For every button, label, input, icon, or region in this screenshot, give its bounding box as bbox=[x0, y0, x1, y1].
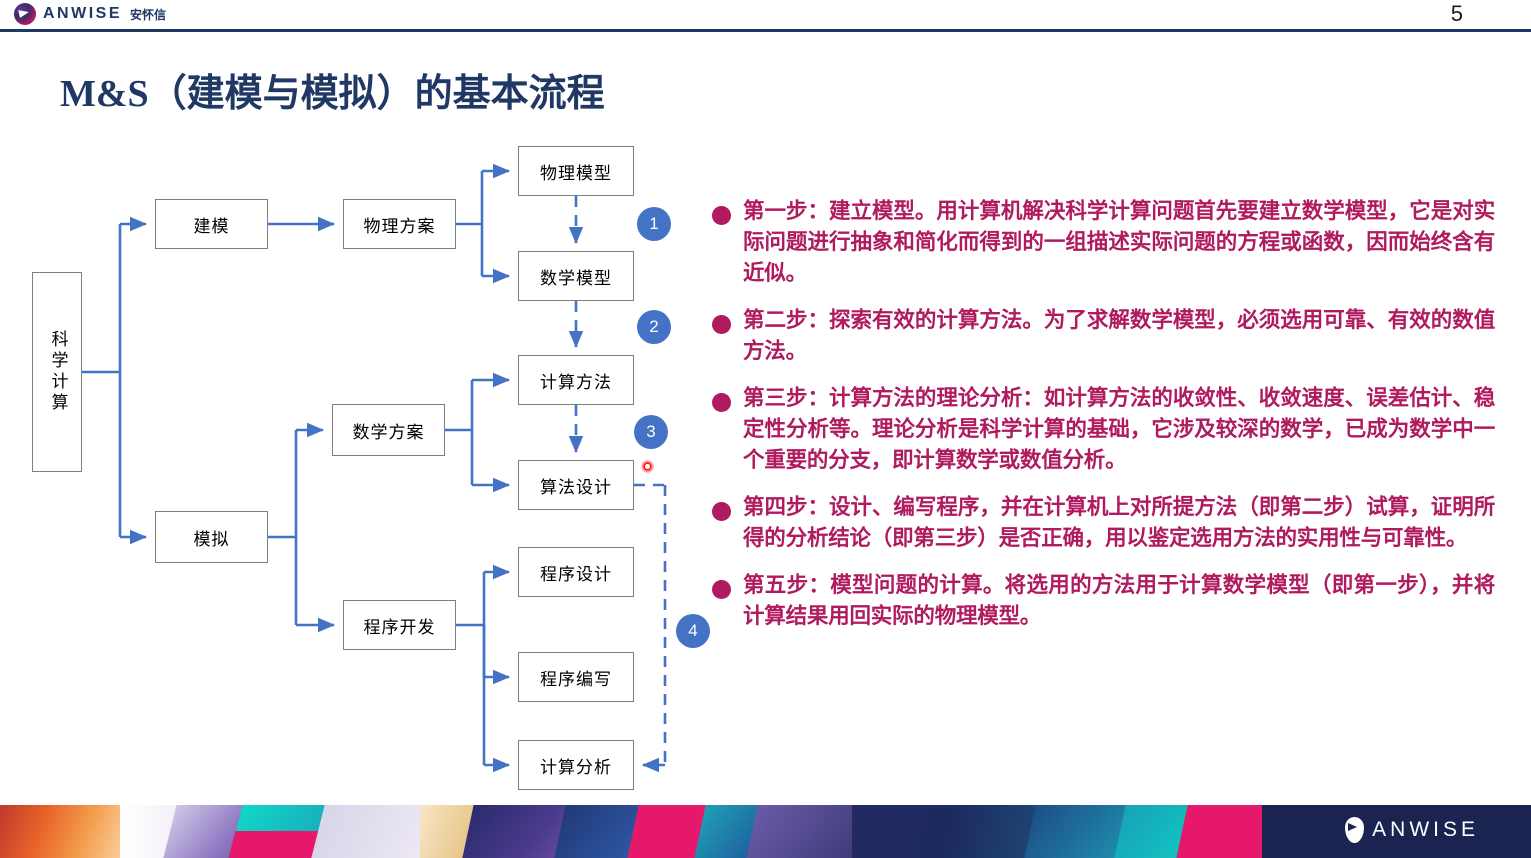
anwise-bird-logo-icon bbox=[1345, 817, 1364, 843]
flow-node-label: 数学模型 bbox=[540, 264, 612, 289]
step-badge-1: 1 bbox=[637, 207, 671, 241]
flow-node-label: 算法设计 bbox=[540, 473, 612, 498]
steps-list: 第一步：建立模型。用计算机解决科学计算问题首先要建立数学模型，它是对实际问题进行… bbox=[712, 196, 1512, 648]
step-text: 第五步：模型问题的计算。将选用的方法用于计算数学模型（即第一步），并将计算结果用… bbox=[743, 570, 1495, 632]
bullet-dot-icon bbox=[712, 315, 731, 334]
flow-node-chengxu-bianxie[interactable]: 程序编写 bbox=[518, 652, 634, 702]
bullet-dot-icon bbox=[712, 393, 731, 412]
flow-node-label: 计算分析 bbox=[540, 753, 612, 778]
step-badge-label: 1 bbox=[649, 214, 658, 234]
flow-node-chengxu-sheji[interactable]: 程序设计 bbox=[518, 547, 634, 597]
step-badge-4: 4 bbox=[676, 614, 710, 648]
list-item: 第四步：设计、编写程序，并在计算机上对所提方法（即第二步）试算，证明所得的分析结… bbox=[712, 492, 1512, 554]
flow-node-jisuan-fenxi[interactable]: 计算分析 bbox=[518, 740, 634, 790]
flow-node-suanfa-sheji[interactable]: 算法设计 bbox=[518, 460, 634, 510]
flow-node-label: 科学计算 bbox=[49, 330, 66, 414]
bullet-dot-icon bbox=[712, 502, 731, 521]
step-text: 第四步：设计、编写程序，并在计算机上对所提方法（即第二步）试算，证明所得的分析结… bbox=[743, 492, 1495, 554]
flow-node-label: 计算方法 bbox=[540, 368, 612, 393]
step-text: 第三步：计算方法的理论分析：如计算方法的收敛性、收敛速度、误差估计、稳定性分析等… bbox=[743, 383, 1495, 476]
step-badge-label: 2 bbox=[649, 317, 658, 337]
flow-node-label: 物理方案 bbox=[364, 212, 436, 237]
footer-decor-band bbox=[746, 805, 867, 858]
list-item: 第二步：探索有效的计算方法。为了求解数学模型，必须选用可靠、有效的数值方法。 bbox=[712, 305, 1512, 367]
list-item: 第三步：计算方法的理论分析：如计算方法的收敛性、收敛速度、误差估计、稳定性分析等… bbox=[712, 383, 1512, 476]
laser-pointer-dot-icon bbox=[641, 460, 654, 473]
flow-node-shuxue-fangan[interactable]: 数学方案 bbox=[332, 404, 445, 456]
step-badge-label: 4 bbox=[688, 621, 697, 641]
flow-node-label: 程序开发 bbox=[364, 613, 436, 638]
slide-footer: ANWISE bbox=[0, 805, 1531, 858]
list-item: 第一步：建立模型。用计算机解决科学计算问题首先要建立数学模型，它是对实际问题进行… bbox=[712, 196, 1512, 289]
footer-decor-band bbox=[852, 805, 1042, 858]
step-badge-2: 2 bbox=[637, 310, 671, 344]
bullet-dot-icon bbox=[712, 580, 731, 599]
bullet-dot-icon bbox=[712, 206, 731, 225]
flow-node-label: 程序编写 bbox=[540, 665, 612, 690]
flow-node-moni[interactable]: 模拟 bbox=[155, 511, 268, 563]
footer-brand-name: ANWISE bbox=[1372, 818, 1479, 842]
step-text: 第一步：建立模型。用计算机解决科学计算问题首先要建立数学模型，它是对实际问题进行… bbox=[743, 196, 1495, 289]
flow-node-jisuan-fangfa[interactable]: 计算方法 bbox=[518, 355, 634, 405]
flow-node-label: 程序设计 bbox=[540, 560, 612, 585]
flow-node-jianmo[interactable]: 建模 bbox=[155, 199, 268, 249]
step-text: 第二步：探索有效的计算方法。为了求解数学模型，必须选用可靠、有效的数值方法。 bbox=[743, 305, 1495, 367]
step-badge-label: 3 bbox=[646, 422, 655, 442]
page-number: 5 bbox=[1451, 1, 1463, 27]
list-item: 第五步：模型问题的计算。将选用的方法用于计算数学模型（即第一步），并将计算结果用… bbox=[712, 570, 1512, 632]
flow-node-label: 物理模型 bbox=[540, 159, 612, 184]
flow-node-wuli-moxing[interactable]: 物理模型 bbox=[518, 146, 634, 196]
flow-node-kexuejisuan[interactable]: 科学计算 bbox=[32, 272, 82, 472]
flow-node-label: 模拟 bbox=[194, 525, 230, 550]
flow-node-shuxue-moxing[interactable]: 数学模型 bbox=[518, 251, 634, 301]
flow-node-wuli-fangan[interactable]: 物理方案 bbox=[343, 199, 456, 249]
flow-node-label: 建模 bbox=[194, 212, 230, 237]
footer-brand-logo: ANWISE bbox=[1345, 817, 1479, 843]
step-badge-3: 3 bbox=[634, 415, 668, 449]
flow-node-label: 数学方案 bbox=[353, 418, 425, 443]
flowchart: 科学计算 建模 模拟 物理方案 数学方案 程序开发 物理模型 数学模型 计算方法… bbox=[0, 0, 720, 820]
flow-node-chengxu-kaifa[interactable]: 程序开发 bbox=[343, 600, 456, 650]
